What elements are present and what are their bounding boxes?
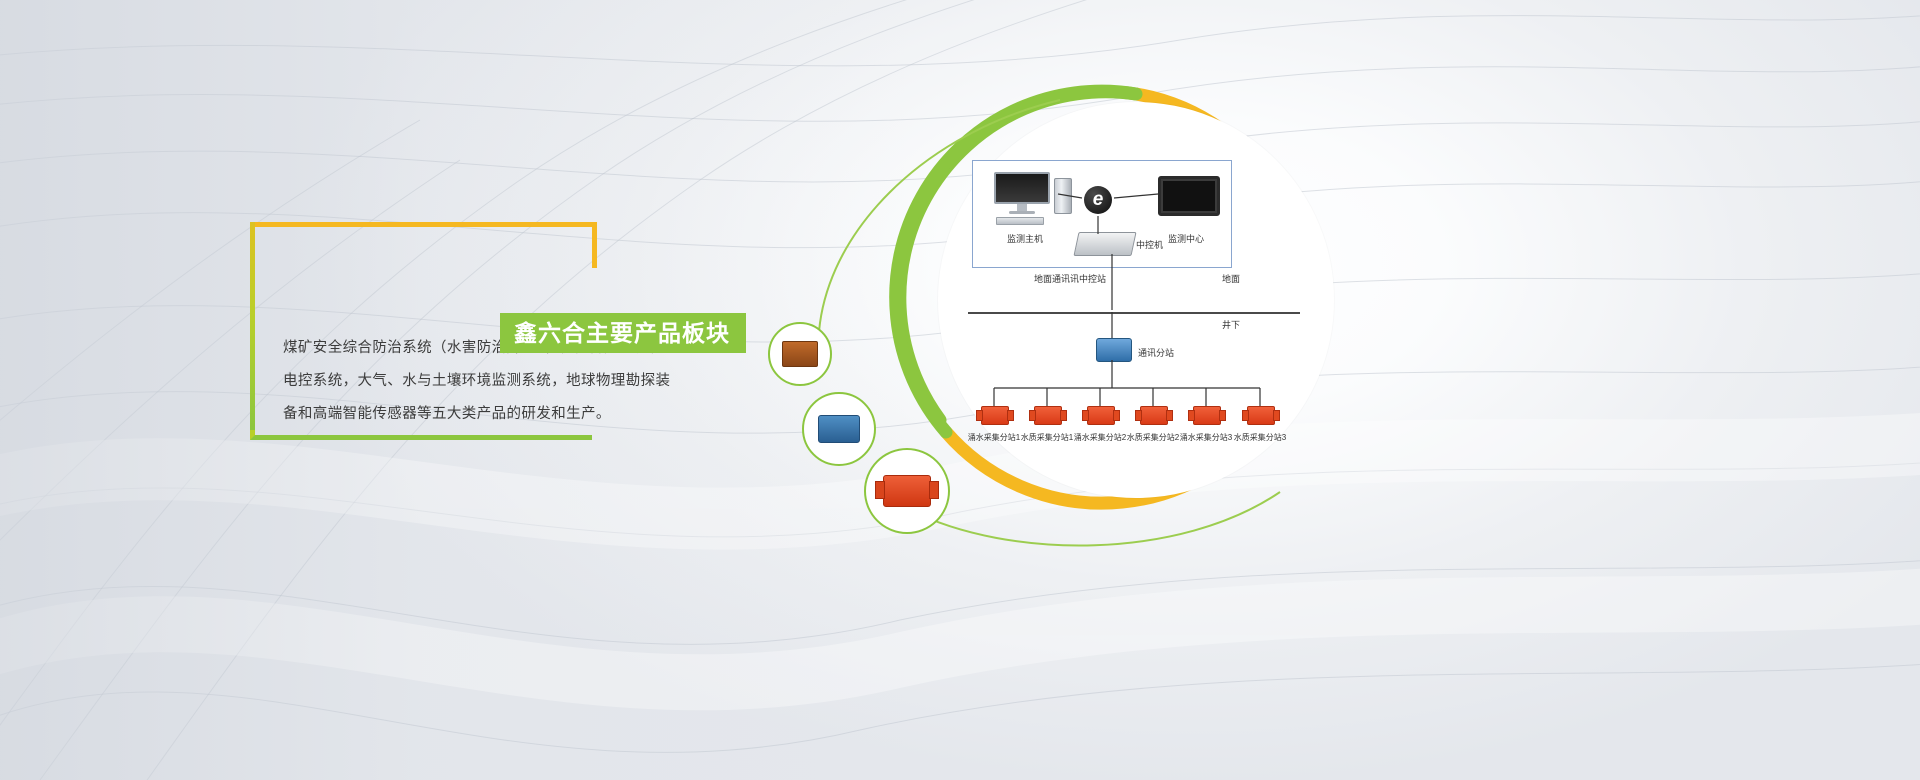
wide-monitor-icon [1158,176,1220,216]
label-comm-substation: 通讯分站 [1138,346,1174,359]
station-icon-1 [981,406,1009,425]
label-ground: 地面 [1222,272,1240,285]
station-icon-4 [1140,406,1168,425]
station-icon-5 [1193,406,1221,425]
blue-device-bubble[interactable] [802,392,876,466]
desktop-computer-icon [994,172,1072,225]
station-icon-6 [1247,406,1275,425]
label-central-control: 中控机 [1136,238,1163,251]
paragraph-line-3: 备和高端智能传感器等五大类产品的研发和生产。 [283,398,703,431]
e-logo-icon: e [1084,186,1112,214]
station-icon-3 [1087,406,1115,425]
label-monitor-host: 监测主机 [990,232,1060,245]
ground-underground-divider [968,312,1300,314]
station-icon-2 [1034,406,1062,425]
banner-stage: 鑫六合主要产品板块 煤矿安全综合防治系统（水害防治），工程机械智能仪表和 电控系… [0,0,1920,780]
red-device-bubble[interactable] [864,448,950,534]
diagram-graphic: 监测主机 e 监测中心 中控机 地面通讯讯 [760,40,1380,580]
paragraph-line-2: 电控系统，大气、水与土壤环境监测系统，地球物理勘探装 [283,365,703,398]
label-ground-comm-station: 地面通讯讯中控站 [1034,272,1106,285]
brown-device-icon [782,341,818,367]
system-schematic: 监测主机 e 监测中心 中控机 地面通讯讯 [972,160,1312,490]
panel-title-banner: 鑫六合主要产品板块 [500,313,746,353]
label-underground: 井下 [1222,318,1240,331]
red-device-icon [883,475,931,507]
brown-device-bubble[interactable] [768,322,832,386]
router-icon [1096,338,1132,362]
blue-device-icon [818,415,860,443]
label-substation-6: 水质采集分站3 [1226,432,1294,443]
page-title: 鑫六合主要产品板块 [514,322,730,345]
server-icon [1076,232,1134,256]
